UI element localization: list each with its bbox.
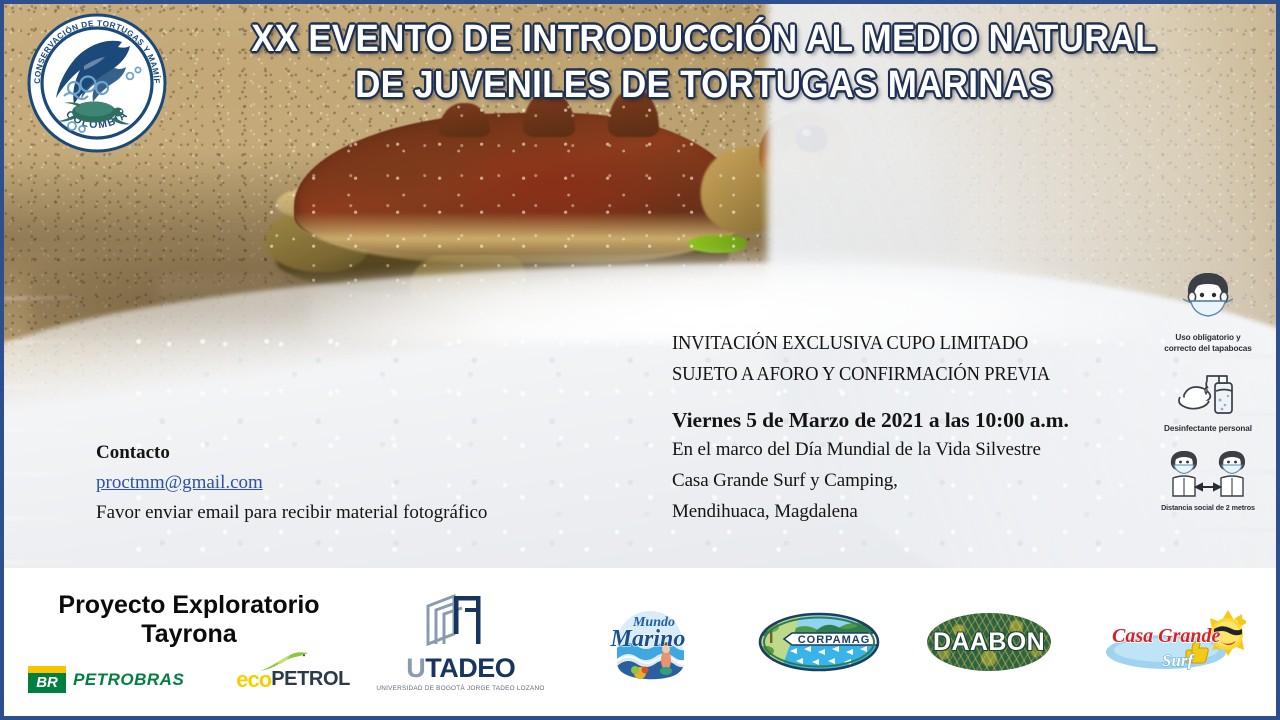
event-venue: Casa Grande Surf y Camping, [672, 465, 1102, 496]
utadeo-logo: UTADEO UNIVERSIDAD DE BOGOTÁ JORGE TADEO… [378, 592, 543, 692]
contact-email-link[interactable]: proctmm@gmail.com [96, 468, 263, 498]
petrobras-mark-icon: BR [28, 666, 66, 693]
covid-caption-mask-2: correcto del tapabocas [1150, 344, 1266, 355]
hand-sanitizer-icon [1175, 367, 1241, 419]
utadeo-tagline: UNIVERSIDAD DE BOGOTÁ JORGE TADEO LOZANO [377, 685, 545, 692]
project-title-line-2: Tayrona [22, 620, 356, 649]
daabon-wordmark: DAABON [933, 628, 1045, 657]
invitation-headline-1: INVITACIÓN EXCLUSIVA CUPO LIMITADO [672, 328, 1081, 359]
covid-caption-mask-1: Uso obligatorio y [1150, 333, 1266, 344]
program-seal-logo: PROGRAMA DE CONSERVACIÓN DE TORTUGAS Y M… [26, 12, 168, 154]
project-title-line-1: Proyecto Exploratorio [22, 591, 356, 620]
event-date: Viernes 5 de Marzo de 2021 a las 10:00 a… [672, 406, 1102, 434]
utadeo-u-letter: U [406, 653, 425, 683]
corpamag-logo: CORPAMAG [756, 611, 882, 673]
partner-logos-row: UTADEO UNIVERSIDAD DE BOGOTÁ JORGE TADEO… [356, 592, 1276, 692]
covid-item-distance: Distancia social de 2 metros [1150, 448, 1266, 514]
petrobras-wordmark: PETROBRAS [73, 670, 184, 690]
project-block: Proyecto Exploratorio Tayrona BR PETROBR… [4, 591, 356, 693]
mundo-marino-logo: Mundo Marino [588, 604, 712, 680]
project-sponsor-logos: BR PETROBRAS eco PETROL [22, 666, 356, 693]
invitation-details: INVITACIÓN EXCLUSIVA CUPO LIMITADO SUJET… [672, 328, 1102, 527]
utadeo-book-mark-icon [424, 592, 498, 648]
covid-caption-sanitizer: Desinfectante personal [1150, 424, 1266, 435]
social-distance-icon [1162, 448, 1254, 498]
sponsors-footer: Proyecto Exploratorio Tayrona BR PETROBR… [4, 568, 1276, 716]
contact-note: Favor enviar email para recibir material… [96, 498, 487, 528]
corpamag-wordmark: CORPAMAG [798, 634, 871, 646]
iguana-icon [258, 652, 310, 674]
contact-title: Contacto [96, 438, 487, 468]
event-context: En el marco del Día Mundial de la Vida S… [672, 434, 1102, 465]
covid-protocol-panel: Uso obligatorio y correcto del tapabocas [1150, 270, 1266, 526]
petrobras-logo: BR PETROBRAS [28, 666, 184, 693]
casa-grande-word-bottom: Surf [1162, 651, 1196, 670]
ecopetrol-logo: eco PETROL [236, 667, 350, 693]
utadeo-tadeo-letters: TADEO [425, 653, 515, 683]
covid-caption-distance: Distancia social de 2 metros [1150, 503, 1266, 514]
poster-root: PROGRAMA DE CONSERVACIÓN DE TORTUGAS Y M… [0, 0, 1280, 720]
event-location: Mendihuaca, Magdalena [672, 496, 1102, 527]
covid-item-sanitizer: Desinfectante personal [1150, 367, 1266, 435]
covid-item-mask: Uso obligatorio y correcto del tapabocas [1150, 270, 1266, 354]
casa-grande-surf-logo: Casa Grande Surf [1096, 604, 1246, 680]
petrobras-br-text: BR [36, 673, 58, 693]
contact-block: Contacto proctmm@gmail.com Favor enviar … [96, 438, 487, 528]
casa-grande-word-top: Casa Grande [1112, 625, 1220, 647]
mundo-marino-word-bottom: Marino [610, 626, 686, 652]
invitation-headline-2: SUJETO A AFORO Y CONFIRMACIÓN PREVIA [672, 359, 1081, 390]
utadeo-wordmark: UTADEO [378, 653, 543, 683]
daabon-logo: DAABON [927, 613, 1051, 671]
face-mask-icon [1177, 270, 1239, 328]
